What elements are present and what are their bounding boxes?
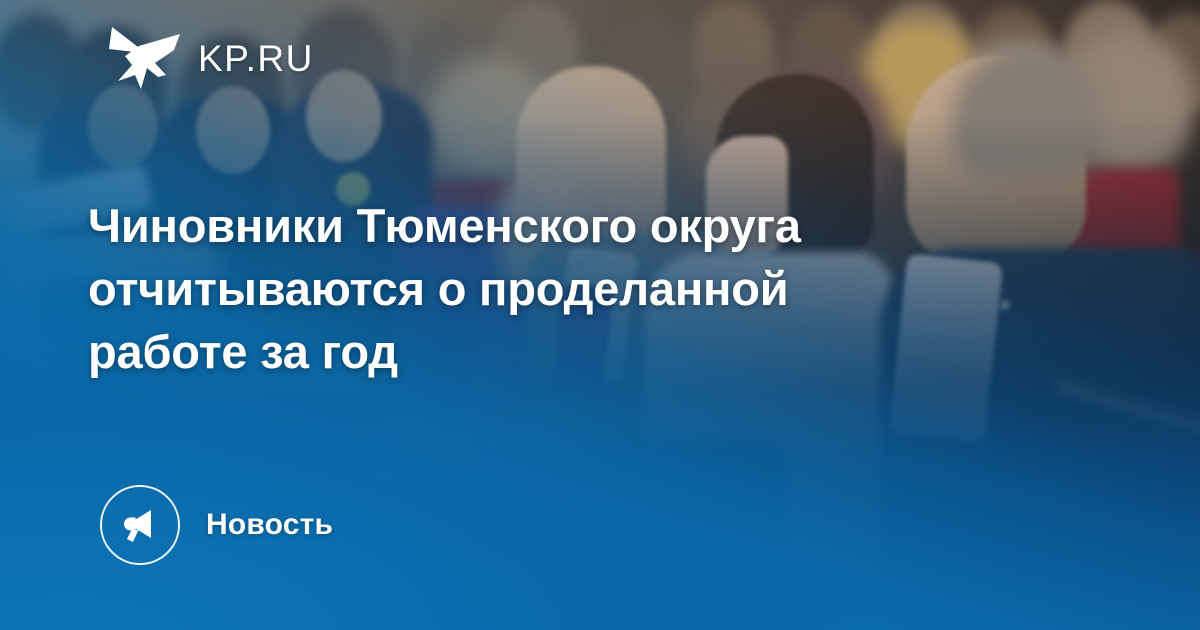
kp-wordmark: KP.RU xyxy=(198,40,314,77)
social-share-card: Вечерка KP.RU Чиновники Тюменского округ… xyxy=(0,0,1200,630)
swallow-bird-icon xyxy=(108,25,182,91)
headline-line-1: Чиновники Тюменского округа xyxy=(88,194,1028,257)
kp-logo[interactable]: KP.RU xyxy=(108,25,314,91)
headline-line-3: работе за год xyxy=(88,320,1028,383)
news-badge[interactable]: Новость xyxy=(100,485,333,565)
badge-label: Новость xyxy=(206,510,333,540)
headline-line-2: отчитываются о проделанной xyxy=(88,257,1028,320)
headline: Чиновники Тюменского округа отчитываются… xyxy=(88,194,1028,383)
badge-icon-circle xyxy=(100,485,180,565)
megaphone-icon xyxy=(120,505,160,545)
